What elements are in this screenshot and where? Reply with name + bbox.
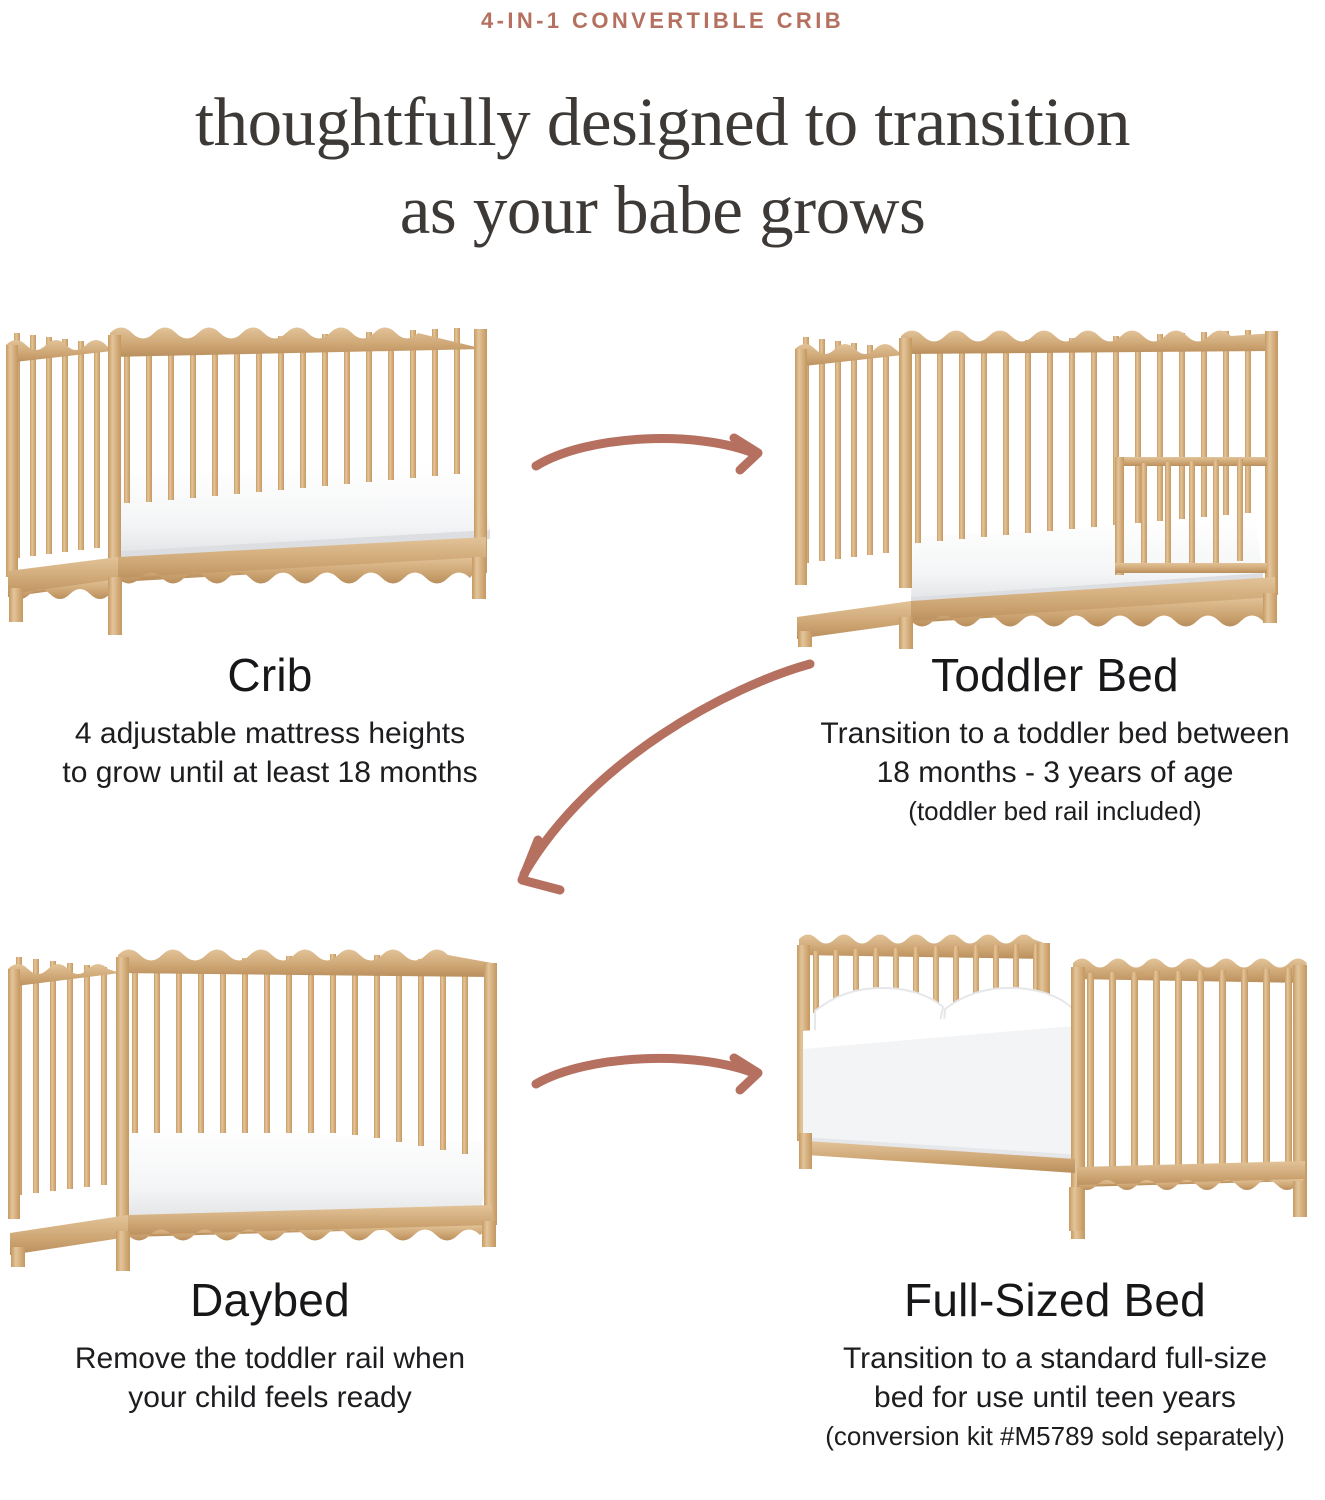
toddler-bed-illustration <box>785 305 1325 650</box>
stage-caption-daybed: Daybed Remove the toddler rail when your… <box>0 1275 540 1418</box>
crib-illustration <box>0 305 540 650</box>
stage-note-full-sized-bed: (conversion kit #M5789 sold separately) <box>785 1420 1325 1454</box>
stage-body-line-1: Remove the toddler rail when <box>0 1339 540 1379</box>
headline-line-2: as your babe grows <box>0 166 1325 254</box>
stage-panel-full-sized-bed: Full-Sized Bed Transition to a standard … <box>785 915 1325 1454</box>
stage-body-line-2: bed for use until teen years <box>785 1378 1325 1418</box>
arrow-toddler-to-daybed-icon <box>480 650 830 900</box>
stage-panel-daybed: Daybed Remove the toddler rail when your… <box>0 915 540 1418</box>
stage-body-line-1: Transition to a standard full-size <box>785 1339 1325 1379</box>
full-sized-bed-illustration <box>785 915 1325 1275</box>
stage-body-line-1: Transition to a toddler bed between <box>785 714 1325 754</box>
stage-title-crib: Crib <box>0 650 540 701</box>
stage-body-line-2: your child feels ready <box>0 1378 540 1418</box>
arrow-daybed-to-full-icon <box>528 1040 778 1110</box>
stage-body-toddler-bed: Transition to a toddler bed between 18 m… <box>785 714 1325 794</box>
stage-caption-crib: Crib 4 adjustable mattress heights to gr… <box>0 650 540 793</box>
stage-body-daybed: Remove the toddler rail when your child … <box>0 1339 540 1419</box>
stage-title-daybed: Daybed <box>0 1275 540 1326</box>
stage-body-line-1: 4 adjustable mattress heights <box>0 714 540 754</box>
stage-panel-crib: Crib 4 adjustable mattress heights to gr… <box>0 305 540 793</box>
daybed-illustration <box>0 915 540 1275</box>
stage-caption-toddler-bed: Toddler Bed Transition to a toddler bed … <box>785 650 1325 829</box>
stage-body-full-sized-bed: Transition to a standard full-size bed f… <box>785 1339 1325 1419</box>
stage-body-line-2: to grow until at least 18 months <box>0 753 540 793</box>
stage-body-line-2: 18 months - 3 years of age <box>785 753 1325 793</box>
headline-line-1: thoughtfully designed to transition <box>195 84 1130 160</box>
page-title: thoughtfully designed to transition as y… <box>0 78 1325 255</box>
stage-panel-toddler-bed: Toddler Bed Transition to a toddler bed … <box>785 305 1325 829</box>
stage-note-toddler-bed: (toddler bed rail included) <box>785 795 1325 829</box>
stage-title-toddler-bed: Toddler Bed <box>785 650 1325 701</box>
stage-body-crib: 4 adjustable mattress heights to grow un… <box>0 714 540 794</box>
stage-caption-full-sized-bed: Full-Sized Bed Transition to a standard … <box>785 1275 1325 1454</box>
eyebrow-label: 4-IN-1 CONVERTIBLE CRIB <box>0 8 1325 34</box>
arrow-crib-to-toddler-icon <box>528 420 778 490</box>
stage-title-full-sized-bed: Full-Sized Bed <box>785 1275 1325 1326</box>
